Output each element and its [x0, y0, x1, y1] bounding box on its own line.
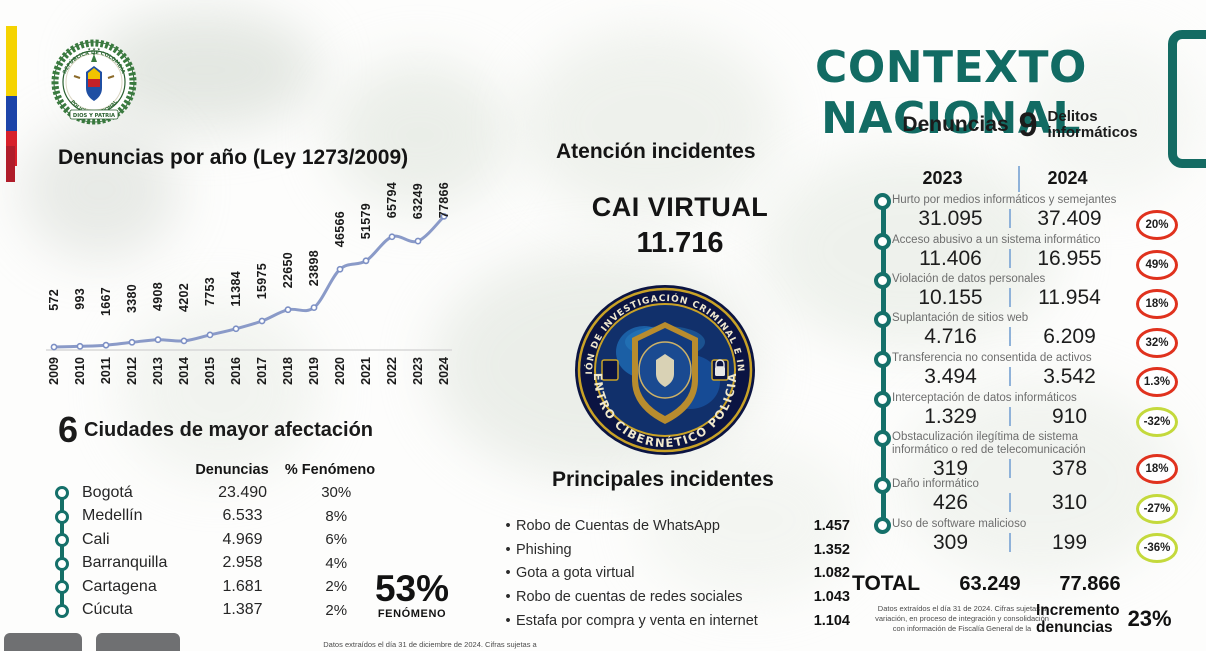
chart-point: [285, 307, 290, 312]
incident-row: •Robo de Cuentas de WhatsApp1.457: [500, 518, 850, 535]
city-row: Medellín6.5338%: [64, 505, 384, 529]
chart-value-label: 11384: [229, 271, 243, 307]
city-name: Barranquilla: [64, 554, 197, 572]
chart-point: [155, 337, 160, 342]
chart-x-label: 2020: [333, 357, 347, 385]
crime-label: Hurto por medios informáticos y semejant…: [892, 194, 1128, 207]
denuncias-label: Denuncias: [902, 113, 1008, 137]
crime-value-2023: 1.329: [892, 405, 1009, 429]
denuncias-line-chart: 5729931667338049084202775311384159752265…: [36, 180, 456, 395]
crime-value-2024: 199: [1011, 531, 1128, 555]
chart-point: [389, 234, 394, 239]
city-row: Cartagena1.6812%: [64, 575, 384, 599]
taskbar-button-b[interactable]: [96, 633, 180, 651]
crime-label: Suplantación de sitios web: [892, 312, 1128, 325]
crime-row: Interceptación de datos informáticos1.32…: [892, 392, 1128, 429]
bullet-icon: •: [500, 589, 516, 606]
incidents-list: •Robo de Cuentas de WhatsApp1.457•Phishi…: [500, 518, 850, 636]
crime-row: Obstaculización ilegítima de sistema inf…: [892, 431, 1128, 481]
city-pct: 8%: [288, 508, 384, 525]
crime-value-2024: 310: [1011, 491, 1128, 515]
city-denuncias: 1.387: [197, 601, 289, 619]
cities-heading: 6 Ciudades de mayor afectación: [58, 412, 373, 448]
incident-row: •Gota a gota virtual1.082: [500, 565, 850, 582]
city-denuncias: 2.958: [197, 554, 289, 572]
chart-point: [181, 338, 186, 343]
atencion-incidentes-title: Atención incidentes: [556, 140, 756, 164]
crime-value-2023: 10.155: [892, 286, 1009, 310]
footnote-left: Datos extraídos el día 31 de diciembre d…: [300, 640, 560, 649]
chart-point: [77, 344, 82, 349]
cities-count: 6: [58, 412, 78, 448]
crime-label: Violación de datos personales: [892, 273, 1128, 286]
incident-row: •Robo de cuentas de redes sociales1.043: [500, 589, 850, 606]
chart-value-label: 22650: [281, 252, 295, 288]
city-pct: 6%: [288, 531, 384, 548]
crime-row: Suplantación de sitios web4.7166.209: [892, 312, 1128, 349]
chart-value-label: 3380: [125, 284, 139, 313]
city-bullet-dot: [55, 533, 69, 547]
crime-values: 4.7166.209: [892, 325, 1128, 349]
chart-x-label: 2018: [281, 357, 295, 385]
crime-value-2023: 31.095: [892, 207, 1009, 231]
crime-delta-badge: 1.3%: [1136, 367, 1178, 397]
chart-point: [207, 332, 212, 337]
chart-x-label: 2011: [99, 357, 113, 384]
cai-virtual-value: 11.716: [530, 227, 830, 260]
city-denuncias: 6.533: [197, 507, 289, 525]
chart-value-label: 4202: [177, 283, 191, 312]
chart-point: [415, 238, 420, 243]
crime-delta-badge: 32%: [1136, 328, 1178, 358]
crime-row: Violación de datos personales10.15511.95…: [892, 273, 1128, 310]
chart-x-label: 2010: [73, 357, 87, 385]
chart-value-label: 4908: [151, 282, 165, 311]
delitos-count: 9: [1019, 108, 1038, 142]
chart-value-label: 15975: [255, 263, 269, 299]
chart-x-label: 2024: [437, 357, 451, 385]
crime-bullet-dot: [874, 477, 891, 494]
city-bullet-dot: [55, 604, 69, 618]
incremento-label: Incremento denuncias: [1036, 602, 1120, 636]
crime-delta-badge: -32%: [1136, 407, 1178, 437]
incident-value: 1.352: [804, 542, 850, 559]
year-2024: 2024: [1005, 168, 1130, 189]
crime-delta-badge: -36%: [1136, 533, 1178, 563]
city-denuncias: 23.490: [197, 484, 289, 502]
cities-table-header: Denuncias % Fenómeno: [64, 462, 384, 478]
chart-point: [129, 340, 134, 345]
chart-point: [259, 318, 264, 323]
crime-value-2024: 6.209: [1011, 325, 1128, 349]
incident-name: Phishing: [516, 542, 804, 559]
crime-row: Acceso abusivo a un sistema informático1…: [892, 234, 1128, 271]
year-2023: 2023: [880, 168, 1005, 189]
centro-cibernetico-policial-seal-icon: DIRECCIÓN DE INVESTIGACIÓN CRIMINAL E IN…: [572, 282, 758, 458]
red-accent-tick: [6, 146, 15, 182]
chart-x-label: 2019: [307, 357, 321, 385]
city-row: Barranquilla2.9584%: [64, 552, 384, 576]
city-denuncias: 1.681: [197, 578, 289, 596]
crime-values: 31.09537.409: [892, 207, 1128, 231]
chart-point: [363, 258, 368, 263]
crime-delta-badge: -27%: [1136, 494, 1178, 524]
cities-col-pct: % Fenómeno: [280, 462, 380, 478]
crime-values: 10.15511.954: [892, 286, 1128, 310]
svg-text:DIOS Y PATRIA: DIOS Y PATRIA: [73, 113, 115, 119]
chart-point: [233, 326, 238, 331]
colombia-flag-bar: [6, 26, 17, 166]
incident-name: Estafa por compra y venta en internet: [516, 613, 804, 630]
phenomenon-label: FENÓMENO: [352, 608, 472, 620]
crime-bullet-dot: [874, 311, 891, 328]
crime-bullet-dot: [874, 391, 891, 408]
crime-bullet-dot: [874, 517, 891, 534]
incremento-denuncias: Incremento denuncias 23%: [1036, 602, 1196, 636]
incident-row: •Phishing1.352: [500, 542, 850, 559]
incident-name: Robo de cuentas de redes sociales: [516, 589, 804, 606]
total-2023: 63.249: [940, 573, 1040, 596]
taskbar-button-a[interactable]: [4, 633, 82, 651]
total-2024: 77.866: [1040, 573, 1140, 596]
chart-point: [51, 344, 56, 349]
years-divider: [1018, 166, 1020, 192]
bullet-icon: •: [500, 518, 516, 535]
crime-values: 3.4943.542: [892, 365, 1128, 389]
chart-x-label: 2015: [203, 357, 217, 385]
chart-x-label: 2017: [255, 357, 269, 385]
city-row: Bogotá23.49030%: [64, 481, 384, 505]
crime-bullet-dot: [874, 272, 891, 289]
incremento-value: 23%: [1128, 606, 1172, 632]
chart-point: [311, 305, 316, 310]
crime-row: Daño informático426310: [892, 478, 1128, 515]
chart-point: [337, 267, 342, 272]
chart-value-label: 51579: [359, 203, 373, 239]
chart-x-label: 2014: [177, 357, 191, 385]
incident-value: 1.043: [804, 589, 850, 606]
crime-delta-badge: 18%: [1136, 289, 1178, 319]
cities-heading-text: Ciudades de mayor afectación: [84, 419, 373, 442]
crime-values: 426310: [892, 491, 1128, 515]
city-row: Cali4.9696%: [64, 528, 384, 552]
chart-value-label: 7753: [203, 277, 217, 306]
chart-value-label: 1667: [99, 287, 113, 316]
city-bullet-dot: [55, 557, 69, 571]
bullet-icon: •: [500, 613, 516, 630]
incident-value: 1.457: [804, 518, 850, 535]
crime-value-2023: 3.494: [892, 365, 1009, 389]
city-name: Cali: [64, 531, 197, 549]
crime-value-2024: 11.954: [1011, 286, 1128, 310]
chart-title: Denuncias por año (Ley 1273/2009): [58, 146, 408, 170]
crime-label: Interceptación de datos informáticos: [892, 392, 1128, 405]
cities-col-name: [64, 462, 184, 478]
city-pct: 30%: [288, 484, 384, 501]
incident-value: 1.104: [804, 613, 850, 630]
crime-label: Acceso abusivo a un sistema informático: [892, 234, 1128, 247]
total-label: TOTAL: [852, 572, 940, 596]
crime-row: Uso de software malicioso309199: [892, 518, 1128, 555]
crime-label: Uso de software malicioso: [892, 518, 1128, 531]
crime-values: 1.329910: [892, 405, 1128, 429]
chart-x-label: 2013: [151, 357, 165, 385]
city-bullet-dot: [55, 580, 69, 594]
city-bullet-dot: [55, 486, 69, 500]
crime-value-2023: 11.406: [892, 247, 1009, 271]
policia-nacional-shield-icon: ★ ★ ★ ★ REPÚBLICA DE COLOMBIA POLICÍA · …: [44, 32, 144, 132]
incremento-line1: Incremento: [1036, 602, 1120, 619]
crime-value-2023: 309: [892, 531, 1009, 555]
crime-value-2024: 37.409: [1011, 207, 1128, 231]
chart-point: [103, 343, 108, 348]
crime-row: Transferencia no consentida de activos3.…: [892, 352, 1128, 389]
chart-x-label: 2016: [229, 357, 243, 385]
crime-label: Transferencia no consentida de activos: [892, 352, 1128, 365]
cai-virtual-label: CAI VIRTUAL: [530, 192, 830, 223]
crime-values: 11.40616.955: [892, 247, 1128, 271]
slide-root: ★ ★ ★ ★ REPÚBLICA DE COLOMBIA POLICÍA · …: [0, 0, 1206, 651]
phenomenon-value: 53%: [352, 570, 472, 607]
delitos-informaticos-label: Delitos informáticos: [1048, 109, 1138, 141]
total-row: TOTAL 63.249 77.866: [852, 572, 1142, 596]
crime-bullet-dot: [874, 430, 891, 447]
crime-value-2024: 910: [1011, 405, 1128, 429]
crime-bullet-dot: [874, 193, 891, 210]
city-denuncias: 4.969: [197, 531, 289, 549]
chart-x-label: 2021: [359, 357, 373, 385]
bullet-icon: •: [500, 542, 516, 559]
years-header: 2023 2024: [880, 168, 1130, 189]
crime-bullet-dot: [874, 351, 891, 368]
crime-row: Hurto por medios informáticos y semejant…: [892, 194, 1128, 231]
crime-value-2024: 3.542: [1011, 365, 1128, 389]
chart-x-label: 2009: [47, 357, 61, 385]
chart-x-label: 2023: [411, 357, 425, 385]
crime-label: Daño informático: [892, 478, 1128, 491]
crime-delta-badge: 49%: [1136, 250, 1178, 280]
city-name: Medellín: [64, 507, 197, 525]
phenomenon-percent: 53% FENÓMENO: [352, 570, 472, 620]
cities-table: Denuncias % Fenómeno Bogotá23.49030%Mede…: [64, 462, 384, 622]
chart-value-label: 23898: [307, 250, 321, 286]
crime-value-2023: 4.716: [892, 325, 1009, 349]
crime-value-2024: 16.955: [1011, 247, 1128, 271]
denuncias-delitos-header: Denuncias 9 Delitos informáticos: [870, 105, 1170, 145]
chart-line: [54, 216, 444, 347]
principales-incidentes-title: Principales incidentes: [552, 468, 774, 492]
city-row: Cúcuta1.3872%: [64, 599, 384, 623]
chart-value-label: 572: [47, 289, 61, 311]
crime-label: Obstaculización ilegítima de sistema inf…: [892, 431, 1128, 457]
chart-value-label: 993: [73, 288, 87, 310]
cities-col-denuncias: Denuncias: [184, 462, 280, 478]
incident-name: Robo de Cuentas de WhatsApp: [516, 518, 804, 535]
incident-value: 1.082: [804, 565, 850, 582]
chart-value-label: 65794: [385, 182, 399, 218]
city-bullet-dot: [55, 510, 69, 524]
chart-value-label: 77866: [437, 182, 451, 218]
bullet-icon: •: [500, 565, 516, 582]
crime-bullet-dot: [874, 233, 891, 250]
incident-name: Gota a gota virtual: [516, 565, 804, 582]
crime-delta-badge: 18%: [1136, 454, 1178, 484]
footnote-right: Datos extraídos el día 31 de 2024. Cifra…: [872, 604, 1052, 633]
crime-value-2023: 426: [892, 491, 1009, 515]
delitos-line1: Delitos: [1048, 108, 1098, 125]
cities-rows: Bogotá23.49030%Medellín6.5338%Cali4.9696…: [64, 481, 384, 622]
chart-value-label: 46566: [333, 211, 347, 247]
chart-x-label: 2012: [125, 357, 139, 385]
incremento-line2: denuncias: [1036, 619, 1113, 636]
cai-virtual-block: CAI VIRTUAL 11.716: [530, 192, 830, 260]
city-name: Bogotá: [64, 484, 197, 502]
city-name: Cúcuta: [64, 601, 197, 619]
crime-values: 309199: [892, 531, 1128, 555]
city-name: Cartagena: [64, 578, 197, 596]
chart-x-label: 2022: [385, 357, 399, 385]
crime-delta-badge: 20%: [1136, 210, 1178, 240]
delitos-line2: informáticos: [1048, 124, 1138, 141]
chart-value-label: 63249: [411, 183, 425, 219]
incident-row: •Estafa por compra y venta en internet1.…: [500, 613, 850, 630]
